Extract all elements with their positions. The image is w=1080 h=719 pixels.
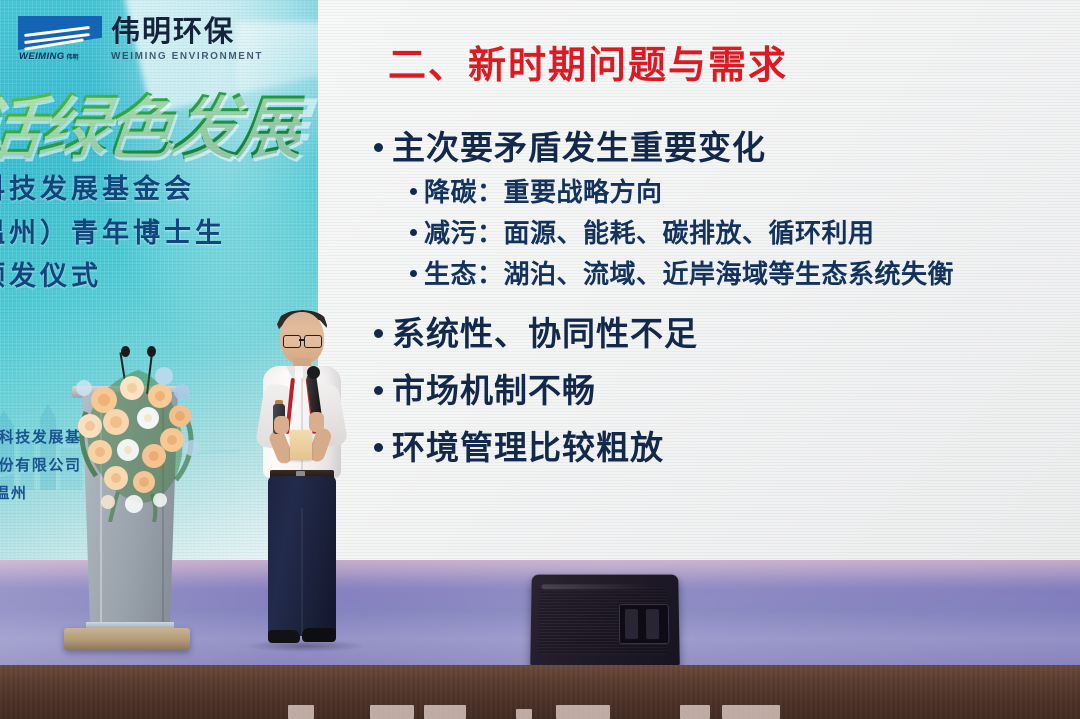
- slide-bullet-list: 主次要矛盾发生重要变化 降碳：重要战略方向 减污：面源、能耗、碳排放、循环利用 …: [374, 125, 1074, 472]
- bullet-dot-icon: [410, 229, 417, 236]
- glasses-icon: [283, 335, 301, 348]
- bullet-level1: 市场机制不畅: [374, 368, 1074, 415]
- bullet-dot-icon: [374, 143, 383, 152]
- bullet-dot-icon: [374, 386, 383, 395]
- presentation-slide: 二、新时期问题与需求 主次要矛盾发生重要变化 降碳：重要战略方向 减污：面源、能…: [318, 0, 1080, 560]
- bullet-dot-icon: [410, 188, 417, 195]
- speaker-figure: [246, 312, 356, 652]
- logo-name-en: WEIMING ENVIRONMENT: [111, 51, 263, 62]
- banner-line: 颁发仪式: [0, 255, 226, 299]
- name-badge: [290, 430, 312, 460]
- podium-wooden-base: [64, 628, 190, 650]
- bullet-level2: 减污：面源、能耗、碳排放、循环利用: [410, 213, 1074, 254]
- banner-green-script: 话绿色发展: [0, 72, 307, 173]
- banner-title-lines: 科技发展基金会 温州）青年博士生 颁发仪式: [0, 168, 226, 299]
- floral-arrangement: [56, 352, 226, 522]
- microphone-head-icon: [307, 366, 320, 379]
- bullet-dot-icon: [410, 270, 417, 277]
- glasses-bridge: [299, 339, 304, 341]
- stage-photo-scene: WEIMING伟明 伟明环保 WEIMING ENVIRONMENT 话绿色发展…: [0, 0, 1080, 719]
- skirt-texture: [0, 665, 1080, 719]
- banner-line: 科技发展基金会: [0, 168, 226, 212]
- bullet-text: 降碳：重要战略方向: [424, 172, 663, 213]
- leg-split: [301, 508, 303, 636]
- speaker-highlight: [541, 584, 650, 589]
- stage-monitor-speaker: [530, 575, 680, 667]
- speaker-port: [619, 604, 669, 644]
- logo-name-cn: 伟明环保: [111, 18, 263, 47]
- stage-skirt: [0, 665, 1080, 719]
- weiming-logo: WEIMING伟明 伟明环保 WEIMING ENVIRONMENT: [18, 16, 263, 62]
- logo-mark-label: WEIMING伟明: [19, 51, 79, 62]
- bullet-level1: 主次要矛盾发生重要变化: [374, 125, 1074, 172]
- bullet-text: 主次要矛盾发生重要变化: [392, 125, 766, 172]
- slide-title: 二、新时期问题与需求: [388, 34, 788, 89]
- bullet-level2: 降碳：重要战略方向: [410, 172, 1074, 213]
- bullet-text: 系统性、协同性不足: [392, 311, 698, 358]
- bullet-level2: 生态：湖泊、流域、近岸海域等生态系统失衡: [410, 254, 1074, 295]
- bullet-dot-icon: [374, 329, 383, 338]
- bullet-dot-icon: [374, 443, 383, 452]
- bullet-level1: 环境管理比较粗放: [374, 425, 1074, 472]
- weiming-wave-mark-icon: WEIMING伟明: [18, 16, 102, 62]
- glasses-icon: [304, 335, 322, 348]
- left-shoe: [268, 630, 300, 643]
- bullet-text: 生态：湖泊、流域、近岸海域等生态系统失衡: [424, 254, 954, 295]
- bullet-text: 市场机制不畅: [392, 368, 596, 415]
- left-hand: [274, 416, 289, 434]
- right-hand: [309, 412, 324, 432]
- bullet-text: 减污：面源、能耗、碳排放、循环利用: [424, 213, 875, 254]
- bullet-text: 环境管理比较粗放: [392, 425, 664, 472]
- banner-line: 温州）青年博士生: [0, 212, 226, 256]
- bullet-level1: 系统性、协同性不足: [374, 311, 1074, 358]
- right-shoe: [302, 628, 336, 642]
